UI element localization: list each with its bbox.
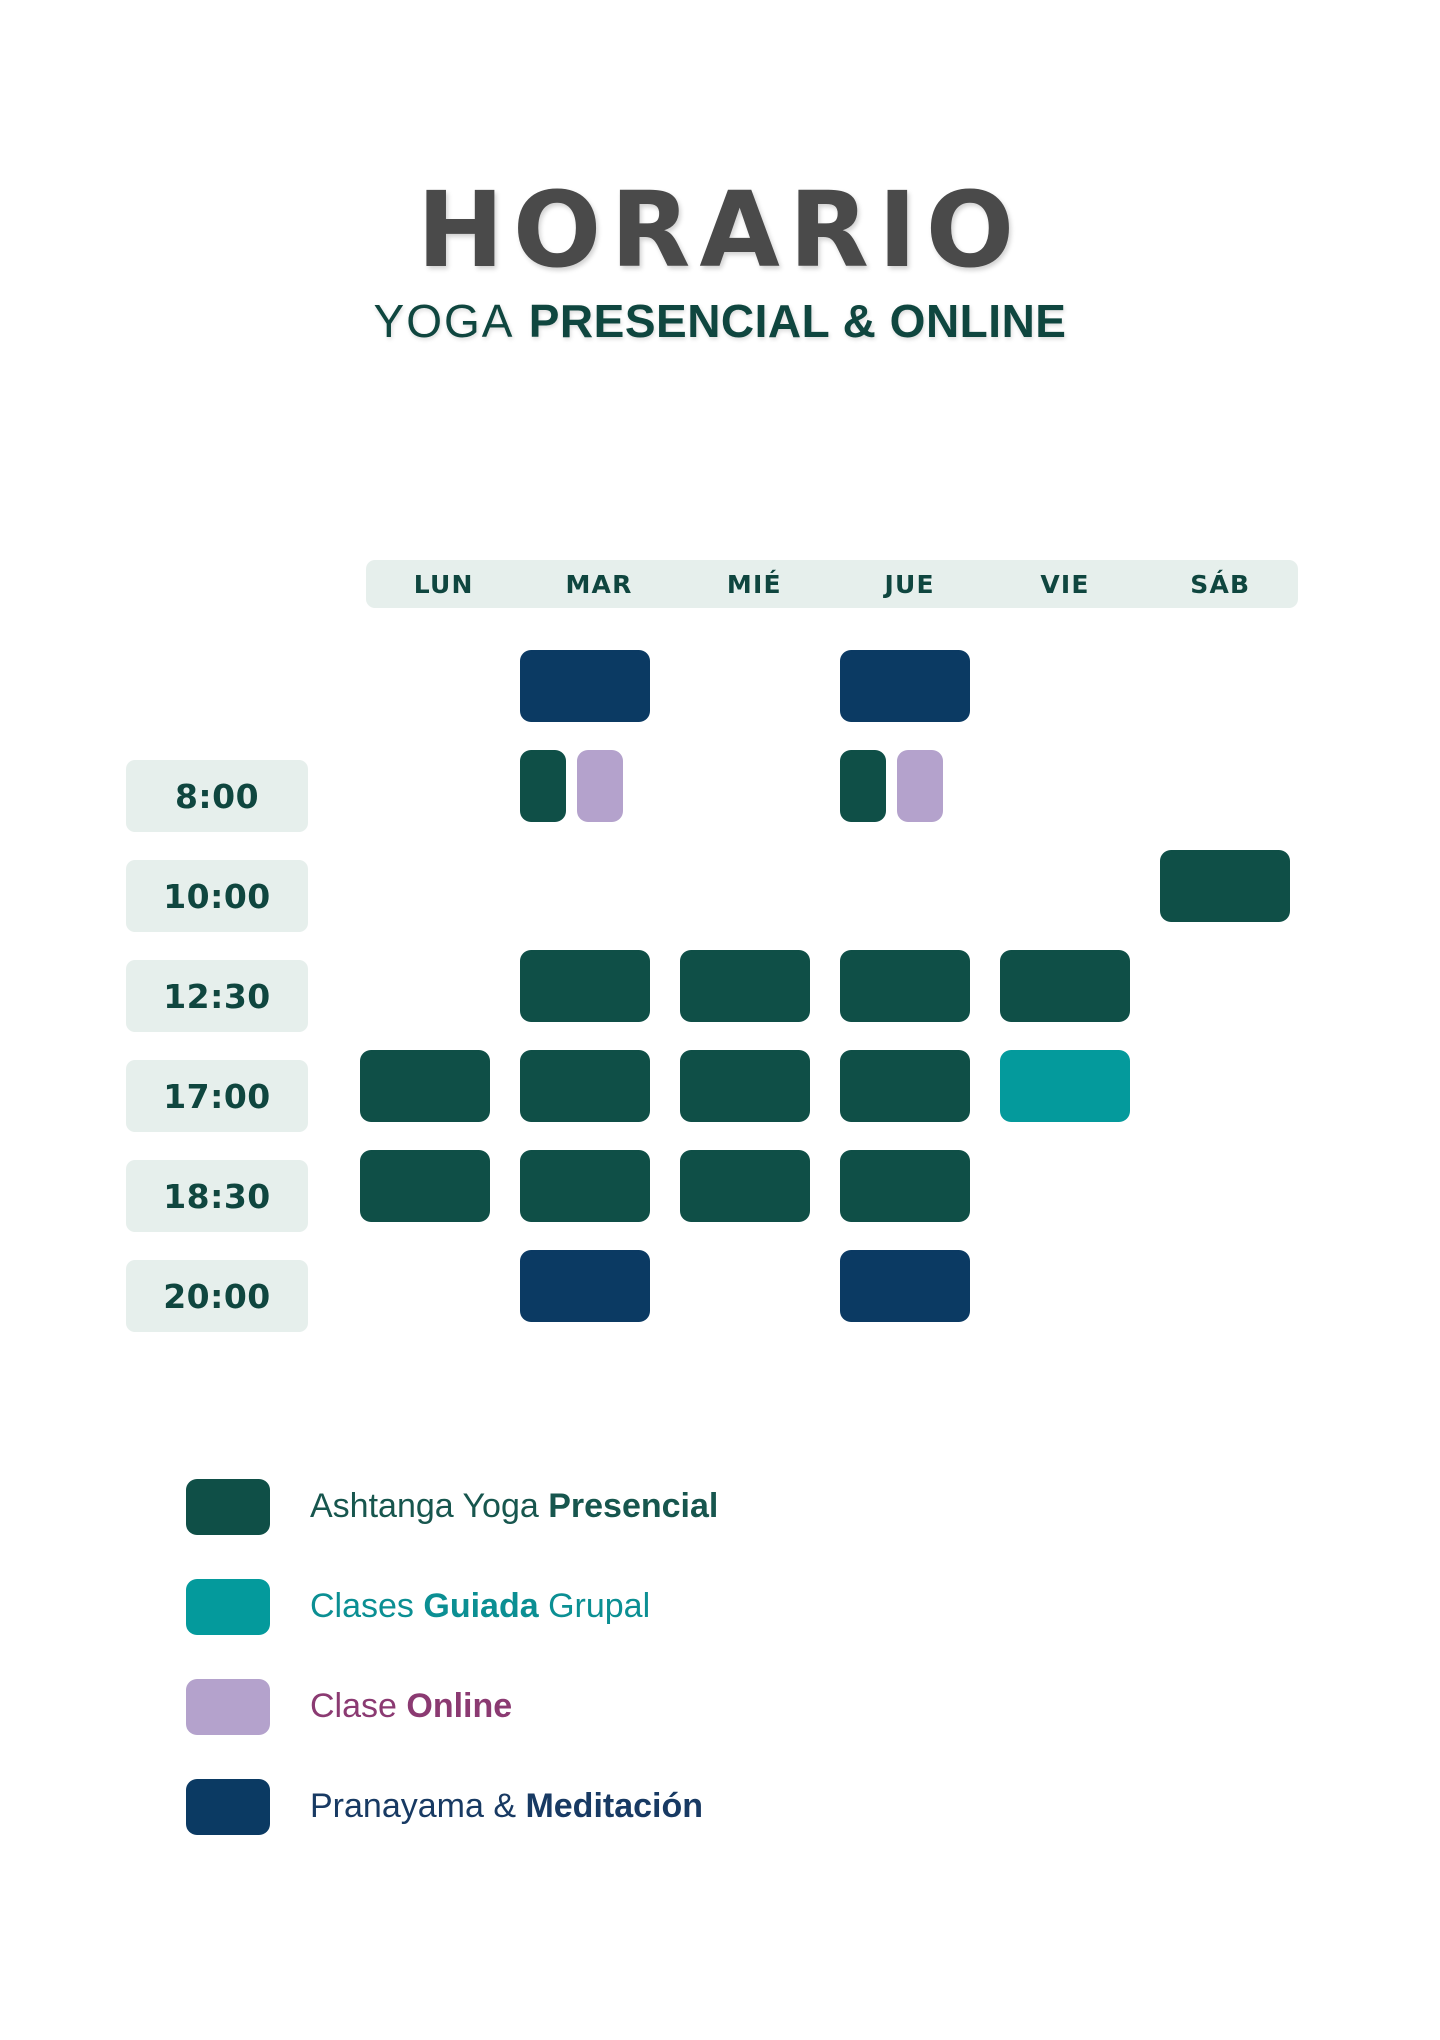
subtitle-light-part: YOGA [374, 295, 515, 347]
legend-text-bold: Guiada [423, 1587, 538, 1625]
empty-slot [360, 650, 490, 722]
class-block-purple[interactable] [897, 750, 943, 822]
schedule-row [352, 950, 1312, 1022]
class-block-green[interactable] [520, 1050, 650, 1122]
schedule-slot-mié [672, 1150, 832, 1222]
time-label: 17:00 [126, 1060, 308, 1132]
schedule-slot-lun [352, 650, 512, 722]
time-label: 8:00 [126, 760, 308, 832]
class-block-navy[interactable] [520, 1250, 650, 1322]
empty-slot [1000, 750, 1130, 822]
schedule-slot-mar [512, 650, 672, 722]
schedule-slot-mar [512, 1250, 672, 1322]
class-block-green[interactable] [1160, 850, 1290, 922]
schedule-slot-sáb [1152, 850, 1312, 922]
schedule-slot-lun [352, 850, 512, 922]
class-block-navy[interactable] [840, 1250, 970, 1322]
empty-slot [680, 850, 810, 922]
schedule-slot-mar [512, 850, 672, 922]
legend-item-green: Ashtanga Yoga Presencial [186, 1472, 718, 1542]
poster-page: HORARIO YOGA PRESENCIAL & ONLINE LUNMARM… [0, 0, 1440, 2040]
legend-text-bold: Meditación [525, 1787, 703, 1825]
class-block-green[interactable] [520, 750, 566, 822]
schedule-slot-lun [352, 950, 512, 1022]
schedule-slot-sáb [1152, 750, 1312, 822]
class-block-green[interactable] [1000, 950, 1130, 1022]
legend-label: Pranayama & Meditación [310, 1788, 703, 1825]
day-header-jue: JUE [832, 560, 987, 608]
schedule-row [352, 1150, 1312, 1222]
class-block-teal[interactable] [1000, 1050, 1130, 1122]
day-header-lun: LUN [366, 560, 521, 608]
day-header-mié: MIÉ [677, 560, 832, 608]
time-label: 10:00 [126, 860, 308, 932]
schedule-slot-sáb [1152, 650, 1312, 722]
schedule-slot-mar [512, 1050, 672, 1122]
schedule-slot-jue [832, 850, 992, 922]
class-block-green[interactable] [680, 1050, 810, 1122]
schedule-slot-jue [832, 650, 992, 722]
schedule-slot-jue [832, 1250, 992, 1322]
legend-text-light: Pranayama & [310, 1787, 525, 1825]
legend-text-bold: Online [406, 1687, 512, 1725]
legend-text-bold: Presencial [548, 1487, 718, 1525]
schedule-slot-mié [672, 1250, 832, 1322]
schedule-slot-mié [672, 650, 832, 722]
empty-slot [1000, 850, 1130, 922]
legend-text-light: Ashtanga Yoga [310, 1487, 548, 1525]
schedule-slot-vie [992, 1150, 1152, 1222]
poster-header: HORARIO YOGA PRESENCIAL & ONLINE [0, 0, 1440, 344]
class-block-green[interactable] [840, 1150, 970, 1222]
schedule-slot-mar [512, 750, 672, 822]
class-block-navy[interactable] [840, 650, 970, 722]
days-header-bar: LUNMARMIÉJUEVIESÁB [366, 560, 1298, 608]
schedule-row [352, 750, 1312, 822]
page-title: HORARIO [0, 178, 1440, 282]
empty-slot [1160, 1150, 1290, 1222]
class-block-green[interactable] [840, 750, 886, 822]
schedule-slot-jue [832, 750, 992, 822]
class-block-green[interactable] [360, 1050, 490, 1122]
empty-slot [1160, 650, 1290, 722]
legend-item-navy: Pranayama & Meditación [186, 1772, 718, 1842]
empty-slot [1000, 650, 1130, 722]
legend-text-light: Clase [310, 1687, 406, 1725]
empty-slot [680, 1250, 810, 1322]
legend-label: Clase Online [310, 1688, 512, 1725]
schedule-slot-jue [832, 950, 992, 1022]
schedule-slot-vie [992, 1250, 1152, 1322]
schedule-slot-sáb [1152, 950, 1312, 1022]
schedule-row [352, 850, 1312, 922]
legend-text-light-tail: Grupal [539, 1587, 651, 1625]
legend-swatch-navy [186, 1779, 270, 1835]
class-block-green[interactable] [520, 950, 650, 1022]
class-block-green[interactable] [680, 1150, 810, 1222]
class-block-green[interactable] [680, 950, 810, 1022]
class-block-purple[interactable] [577, 750, 623, 822]
time-labels-column: 8:0010:0012:3017:0018:3020:00 [126, 760, 308, 1360]
subtitle-bold-part: PRESENCIAL & ONLINE [529, 295, 1067, 347]
legend-swatch-teal [186, 1579, 270, 1635]
legend-label: Clases Guiada Grupal [310, 1588, 650, 1625]
schedule-slot-mié [672, 950, 832, 1022]
schedule-row [352, 1050, 1312, 1122]
schedule-slot-vie [992, 650, 1152, 722]
page-subtitle: YOGA PRESENCIAL & ONLINE [0, 298, 1440, 344]
day-header-vie: VIE [987, 560, 1142, 608]
legend-label: Ashtanga Yoga Presencial [310, 1488, 718, 1525]
empty-slot [680, 750, 810, 822]
legend-swatch-green [186, 1479, 270, 1535]
class-block-navy[interactable] [520, 650, 650, 722]
class-block-green[interactable] [840, 950, 970, 1022]
schedule-slot-mié [672, 1050, 832, 1122]
legend-item-teal: Clases Guiada Grupal [186, 1572, 718, 1642]
empty-slot [1000, 1150, 1130, 1222]
schedule-slot-mar [512, 1150, 672, 1222]
schedule-slot-lun [352, 750, 512, 822]
schedule-slot-mar [512, 950, 672, 1022]
class-block-green[interactable] [840, 1050, 970, 1122]
day-header-mar: MAR [521, 560, 676, 608]
empty-slot [360, 1250, 490, 1322]
schedule-slot-lun [352, 1250, 512, 1322]
day-header-sáb: SÁB [1143, 560, 1298, 608]
empty-slot [360, 750, 490, 822]
time-label: 18:30 [126, 1160, 308, 1232]
empty-slot [360, 950, 490, 1022]
empty-slot [680, 650, 810, 722]
schedule-slot-sáb [1152, 1250, 1312, 1322]
empty-slot [1160, 1050, 1290, 1122]
empty-slot [1000, 1250, 1130, 1322]
schedule-slot-vie [992, 1050, 1152, 1122]
schedule-grid [352, 650, 1312, 1350]
legend-text-light: Clases [310, 1587, 423, 1625]
schedule-slot-jue [832, 1150, 992, 1222]
schedule-row [352, 1250, 1312, 1322]
schedule-slot-lun [352, 1050, 512, 1122]
schedule-slot-sáb [1152, 1150, 1312, 1222]
empty-slot [520, 850, 650, 922]
schedule-slot-vie [992, 750, 1152, 822]
schedule-slot-lun [352, 1150, 512, 1222]
class-block-green[interactable] [520, 1150, 650, 1222]
schedule-slot-mié [672, 750, 832, 822]
empty-slot [1160, 1250, 1290, 1322]
time-label: 20:00 [126, 1260, 308, 1332]
empty-slot [840, 850, 970, 922]
legend: Ashtanga Yoga PresencialClases Guiada Gr… [186, 1472, 718, 1872]
schedule-row [352, 650, 1312, 722]
empty-slot [1160, 750, 1290, 822]
schedule-slot-jue [832, 1050, 992, 1122]
class-block-green[interactable] [360, 1150, 490, 1222]
schedule-slot-vie [992, 850, 1152, 922]
schedule-slot-sáb [1152, 1050, 1312, 1122]
empty-slot [360, 850, 490, 922]
schedule-slot-vie [992, 950, 1152, 1022]
legend-swatch-purple [186, 1679, 270, 1735]
empty-slot [1160, 950, 1290, 1022]
schedule-slot-mié [672, 850, 832, 922]
legend-item-purple: Clase Online [186, 1672, 718, 1742]
time-label: 12:30 [126, 960, 308, 1032]
